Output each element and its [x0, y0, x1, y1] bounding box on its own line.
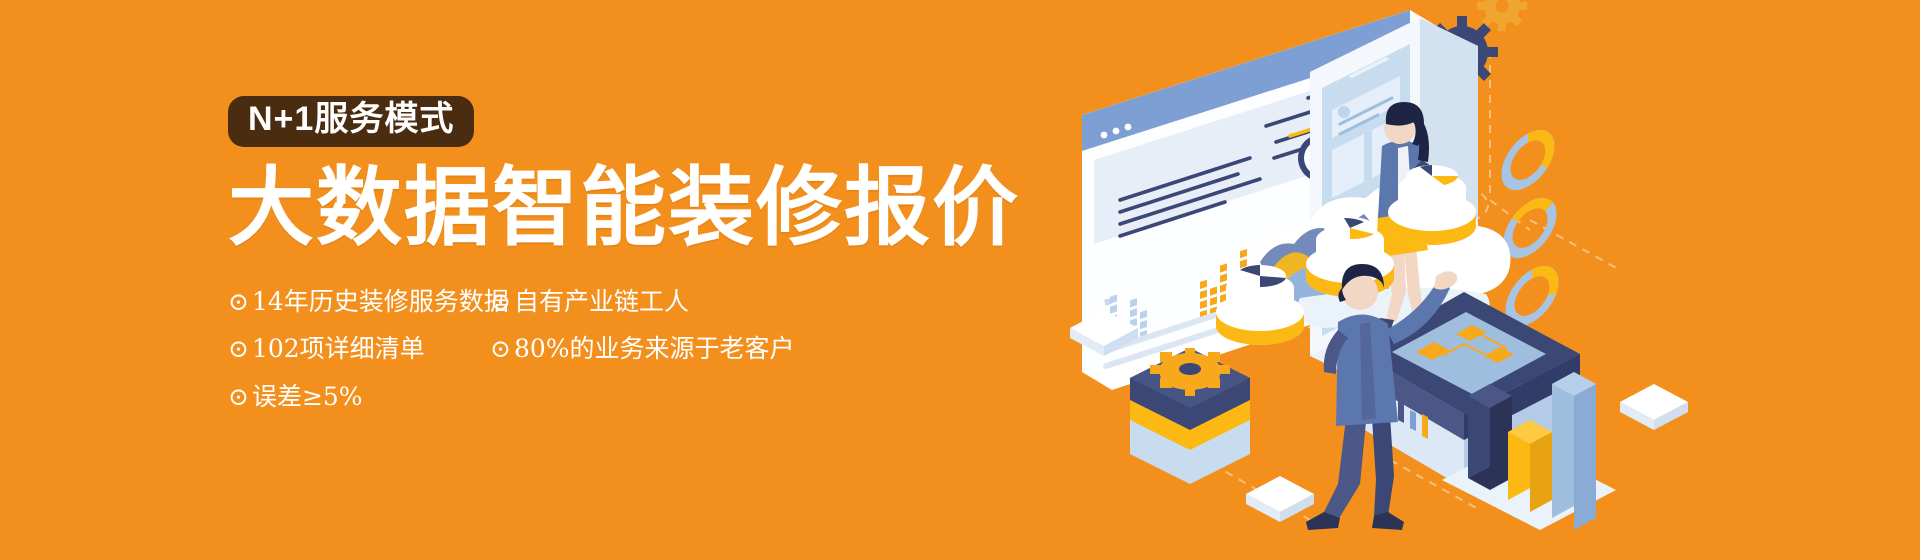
feature-row: ⊙误差≥5%	[228, 380, 848, 414]
banner-copy: N+1服务模式 大数据智能装修报价 ⊙14年历史装修服务数据 ⊙自有产业链工人 …	[228, 96, 988, 428]
promo-banner: N+1服务模式 大数据智能装修报价 ⊙14年历史装修服务数据 ⊙自有产业链工人 …	[0, 0, 1920, 560]
donut-chart-ring	[1506, 126, 1554, 329]
feature-item: ⊙102项详细清单	[228, 332, 490, 366]
feature-label: 自有产业链工人	[514, 287, 689, 316]
bullet-icon: ⊙	[490, 287, 511, 316]
page-title: 大数据智能装修报价	[228, 165, 988, 251]
illustration	[1060, 0, 1920, 560]
bullet-icon: ⊙	[228, 382, 249, 411]
bullet-icon: ⊙	[228, 287, 249, 316]
bullet-icon: ⊙	[490, 334, 511, 363]
feature-label: 14年历史装修服务数据	[252, 287, 509, 316]
feature-row: ⊙14年历史装修服务数据 ⊙自有产业链工人	[228, 285, 848, 319]
feature-list: ⊙14年历史装修服务数据 ⊙自有产业链工人 ⊙102项详细清单 ⊙80%的业务来…	[228, 285, 848, 414]
bullet-icon: ⊙	[228, 334, 249, 363]
service-mode-badge: N+1服务模式	[228, 96, 474, 147]
feature-item: ⊙误差≥5%	[228, 380, 490, 414]
feature-row: ⊙102项详细清单 ⊙80%的业务来源于老客户	[228, 332, 848, 366]
feature-label: 80%的业务来源于老客户	[514, 334, 795, 363]
feature-item: ⊙自有产业链工人	[490, 285, 689, 319]
feature-item: ⊙14年历史装修服务数据	[228, 285, 490, 319]
feature-label: 102项详细清单	[252, 334, 425, 363]
feature-label: 误差≥5%	[252, 382, 363, 411]
feature-item: ⊙80%的业务来源于老客户	[490, 332, 795, 366]
